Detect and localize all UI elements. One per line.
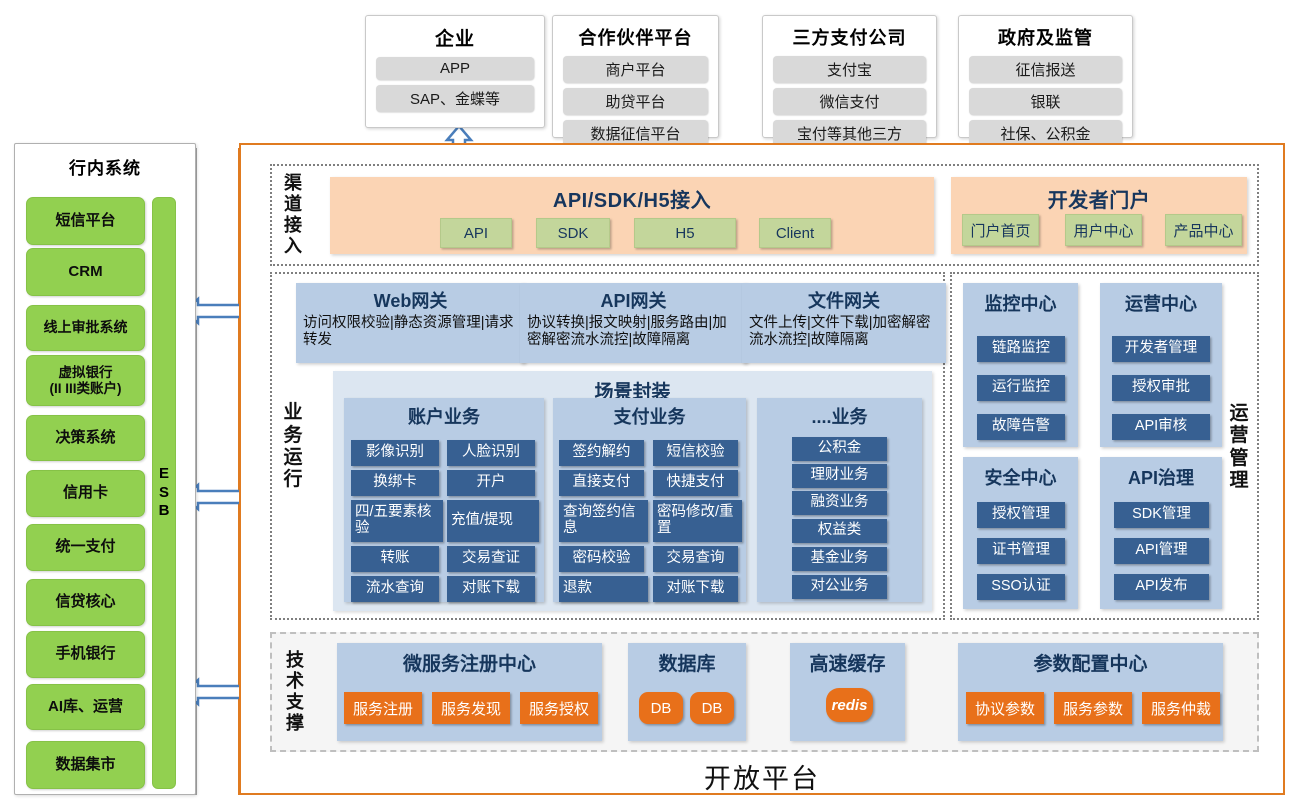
external-item[interactable]: 助贷平台 (563, 88, 708, 115)
scene-chip[interactable]: 理财业务 (792, 464, 887, 488)
scene-chip[interactable]: 影像识别 (351, 440, 439, 466)
external-box-enterprise[interactable]: 企业 APP SAP、金蝶等 (365, 15, 545, 128)
chip-label: 交易查证 (462, 551, 520, 567)
inbank-item-label: AI库、运营 (48, 699, 123, 716)
technical-support-side-label: 技术支撑 (280, 643, 310, 741)
inbank-item-unified-payment[interactable]: 统一支付 (26, 524, 145, 571)
channel-chip-api[interactable]: API (440, 218, 512, 248)
scene-chip[interactable]: 短信校验 (653, 440, 738, 466)
inbank-item-label: 手机银行 (55, 646, 115, 663)
scene-chip[interactable]: 权益类 (792, 519, 887, 543)
inbank-item-label: CRM (68, 264, 102, 281)
scene-chip[interactable]: 融资业务 (792, 491, 887, 515)
chip-label: 服务仲裁 (1151, 698, 1211, 719)
chip-label: DB (702, 700, 723, 717)
chip-label: 对账下载 (667, 581, 725, 597)
inbank-item-data-mart[interactable]: 数据集市 (26, 741, 145, 789)
esb-label-e: E (159, 465, 169, 484)
ops-chip[interactable]: API审核 (1112, 414, 1210, 440)
channel-access-side-label: 渠道接入 (278, 172, 308, 258)
architecture-diagram: 企业 APP SAP、金蝶等 合作伙伴平台 商户平台 助贷平台 数据征信平台 三… (0, 0, 1299, 799)
scene-chip[interactable]: 对账下载 (447, 576, 535, 602)
scene-chip[interactable]: 转账 (351, 546, 439, 572)
scene-chip[interactable]: 人脸识别 (447, 440, 535, 466)
external-item[interactable]: 微信支付 (773, 88, 926, 115)
channel-chip-sdk[interactable]: SDK (536, 218, 610, 248)
chip-label: 证书管理 (992, 543, 1050, 559)
chip-label: 服务发现 (441, 698, 501, 719)
ops-chip[interactable]: SDK管理 (1114, 502, 1209, 528)
ops-chip[interactable]: 授权审批 (1112, 375, 1210, 401)
chip-label: 查询签约信息 (563, 505, 648, 537)
chip-label: 服务授权 (529, 698, 589, 719)
ops-card-title: 监控中心 (963, 290, 1078, 316)
scene-chip[interactable]: 交易查询 (653, 546, 738, 572)
ops-chip[interactable]: 故障告警 (977, 414, 1065, 440)
scene-chip[interactable]: 四/五要素核验 (351, 500, 443, 542)
tech-card-title: 高速缓存 (790, 649, 905, 676)
inbank-panel-title: 行内系统 (15, 154, 195, 179)
esb-label-s: S (159, 484, 169, 503)
ops-chip[interactable]: API管理 (1114, 538, 1209, 564)
open-platform-title: 开放平台 (239, 757, 1285, 796)
chip-label: 交易查询 (667, 551, 725, 567)
external-box-title: 合作伙伴平台 (563, 24, 708, 50)
chip-label: 直接支付 (573, 475, 631, 491)
external-box-third-party-payment[interactable]: 三方支付公司 支付宝 微信支付 宝付等其他三方 (762, 15, 937, 138)
gateway-title: Web网关 (303, 287, 518, 313)
chip-label: 四/五要素核验 (355, 505, 443, 537)
inbank-item-label: 线上审批系统 (44, 320, 128, 336)
inbank-item-crm[interactable]: CRM (26, 248, 145, 296)
operations-management-side-label: 运营管理 (1224, 390, 1254, 505)
ops-card-title: 运营中心 (1100, 290, 1222, 316)
ops-chip[interactable]: 链路监控 (977, 336, 1065, 362)
scene-chip[interactable]: 密码校验 (559, 546, 644, 572)
scene-chip[interactable]: 换绑卡 (351, 470, 439, 496)
scene-chip[interactable]: 快捷支付 (653, 470, 738, 496)
chip-label: 人脸识别 (462, 445, 520, 461)
tech-chip[interactable]: 服务发现 (432, 692, 510, 724)
chip-label: DB (651, 700, 672, 717)
inbank-item-label: 虚拟银行 (II III类账户) (50, 365, 122, 395)
chip-label: 协议参数 (975, 698, 1035, 719)
inbank-item-label: 短信平台 (55, 213, 115, 230)
scene-group-title: ....业务 (757, 403, 922, 429)
ops-chip[interactable]: 证书管理 (977, 538, 1065, 564)
chip-label: 换绑卡 (373, 475, 417, 491)
gateway-desc: 文件上传|文件下载|加密解密流水流控|故障隔离 (749, 315, 939, 349)
chip-label: 短信校验 (667, 445, 725, 461)
scene-chip[interactable]: 查询签约信息 (559, 500, 648, 542)
scene-chip[interactable]: 退款 (559, 576, 648, 602)
inbank-item-label: 数据集市 (55, 757, 115, 774)
chip-label: API审核 (1135, 419, 1187, 435)
inbank-item-mobile-bank[interactable]: 手机银行 (26, 631, 145, 678)
chip-label: 用户中心 (1073, 220, 1133, 241)
tech-card-title: 参数配置中心 (958, 649, 1223, 676)
ops-chip[interactable]: 运行监控 (977, 375, 1065, 401)
ops-chip[interactable]: API发布 (1114, 574, 1209, 600)
chip-label: 开户 (477, 475, 506, 491)
scene-chip[interactable]: 签约解约 (559, 440, 644, 466)
inbank-item-label: 信用卡 (63, 485, 108, 502)
tech-chip-db[interactable]: DB (639, 692, 683, 724)
ops-card-title: 安全中心 (963, 464, 1078, 490)
scene-chip[interactable]: 密码修改/重置 (653, 500, 742, 542)
inbank-item-decision-system[interactable]: 决策系统 (26, 415, 145, 461)
chip-label: Client (776, 225, 814, 242)
tech-chip-db[interactable]: DB (690, 692, 734, 724)
scene-chip[interactable]: 充值/提现 (447, 500, 539, 542)
chip-label: 理财业务 (811, 468, 869, 484)
chip-label: 链路监控 (992, 341, 1050, 357)
tech-chip[interactable]: 服务仲裁 (1142, 692, 1220, 724)
chip-label: 公积金 (818, 441, 862, 457)
chip-label: 故障告警 (992, 419, 1050, 435)
portal-chip-product-center[interactable]: 产品中心 (1165, 214, 1242, 246)
esb-label-b: B (159, 502, 170, 521)
inbank-item-sms-platform[interactable]: 短信平台 (26, 197, 145, 245)
chip-label: 对公业务 (811, 579, 869, 595)
portal-chip-user-center[interactable]: 用户中心 (1065, 214, 1142, 246)
business-running-side-label: 业务运行 (278, 392, 308, 502)
chip-label: 对账下载 (462, 581, 520, 597)
ops-chip[interactable]: 授权管理 (977, 502, 1065, 528)
chip-label: 快捷支付 (667, 475, 725, 491)
gateway-title: 文件网关 (749, 287, 939, 313)
chip-label: 服务参数 (1063, 698, 1123, 719)
chip-label: 转账 (381, 551, 410, 567)
external-item[interactable]: 征信报送 (969, 56, 1122, 83)
chip-label: H5 (675, 225, 694, 242)
scene-chip[interactable]: 对账下载 (653, 576, 738, 602)
inbank-item-virtual-bank[interactable]: 虚拟银行 (II III类账户) (26, 355, 145, 406)
ops-chip[interactable]: SSO认证 (977, 574, 1065, 600)
chip-label: 授权管理 (992, 507, 1050, 523)
chip-label: 融资业务 (811, 495, 869, 511)
gateway-card-web[interactable]: Web网关 访问权限校验|静态资源管理|请求转发 (296, 283, 525, 363)
scene-chip[interactable]: 基金业务 (792, 547, 887, 571)
chip-label: SDK (558, 225, 589, 242)
scene-chip[interactable]: 公积金 (792, 437, 887, 461)
chip-label: API发布 (1135, 579, 1187, 595)
chip-label: 运行监控 (992, 380, 1050, 396)
chip-label: 权益类 (818, 523, 862, 539)
chip-label: 开发者管理 (1125, 341, 1198, 357)
external-box-government-regulator[interactable]: 政府及监管 征信报送 银联 社保、公积金 (958, 15, 1133, 138)
chip-label: 影像识别 (366, 445, 424, 461)
external-item[interactable]: SAP、金蝶等 (376, 85, 534, 112)
gateway-desc: 访问权限校验|静态资源管理|请求转发 (303, 315, 518, 349)
chip-label: API管理 (1135, 543, 1187, 559)
channel-chip-h5[interactable]: H5 (634, 218, 736, 248)
gateway-title: API网关 (527, 287, 740, 313)
tech-card-title: 微服务注册中心 (337, 649, 602, 676)
chip-label: 充值/提现 (451, 513, 513, 529)
external-box-title: 三方支付公司 (773, 24, 926, 50)
chip-label: SSO认证 (991, 579, 1051, 595)
tech-chip-redis[interactable]: redis (826, 688, 873, 722)
scene-chip[interactable]: 对公业务 (792, 575, 887, 599)
chip-label: 密码修改/重置 (657, 505, 742, 537)
inbank-item-online-approval[interactable]: 线上审批系统 (26, 305, 145, 351)
tech-chip[interactable]: 协议参数 (966, 692, 1044, 724)
external-item[interactable]: 商户平台 (563, 56, 708, 83)
gateway-card-api[interactable]: API网关 协议转换|报文映射|服务路由|加密解密流水流控|故障隔离 (520, 283, 747, 363)
inbank-item-label: 统一支付 (55, 539, 115, 556)
chip-label: 服务注册 (353, 698, 413, 719)
external-box-title: 企业 (376, 24, 534, 51)
inbank-item-credit-core[interactable]: 信贷核心 (26, 579, 145, 626)
chip-label: 退款 (563, 581, 592, 597)
scene-chip[interactable]: 流水查询 (351, 576, 439, 602)
ops-chip[interactable]: 开发者管理 (1112, 336, 1210, 362)
tech-card-title: 数据库 (628, 649, 746, 676)
scene-chip[interactable]: 直接支付 (559, 470, 644, 496)
api-sdk-h5-access-panel: API/SDK/H5接入 (330, 177, 934, 254)
scene-chip[interactable]: 开户 (447, 470, 535, 496)
inbank-item-ai-operations[interactable]: AI库、运营 (26, 684, 145, 730)
tech-chip[interactable]: 服务注册 (344, 692, 422, 724)
chip-label: redis (832, 697, 868, 714)
external-item[interactable]: APP (376, 57, 534, 80)
esb-bus: E S B (152, 197, 176, 789)
tech-chip[interactable]: 服务参数 (1054, 692, 1132, 724)
tech-chip[interactable]: 服务授权 (520, 692, 598, 724)
developer-portal-title: 开发者门户 (951, 184, 1247, 213)
scene-group-title: 账户业务 (344, 403, 544, 429)
external-box-partner-platform[interactable]: 合作伙伴平台 商户平台 助贷平台 数据征信平台 (552, 15, 719, 138)
gateway-desc: 协议转换|报文映射|服务路由|加密解密流水流控|故障隔离 (527, 315, 740, 349)
scene-chip[interactable]: 交易查证 (447, 546, 535, 572)
channel-chip-client[interactable]: Client (759, 218, 831, 248)
external-item[interactable]: 支付宝 (773, 56, 926, 83)
ops-card-title: API治理 (1100, 464, 1222, 490)
portal-chip-home[interactable]: 门户首页 (962, 214, 1039, 246)
scene-group-title: 支付业务 (553, 403, 746, 429)
chip-label: SDK管理 (1132, 507, 1191, 523)
chip-label: 门户首页 (970, 220, 1030, 241)
chip-label: API (464, 225, 488, 242)
chip-label: 产品中心 (1173, 220, 1233, 241)
inbank-item-label: 信贷核心 (55, 594, 115, 611)
gateway-card-file[interactable]: 文件网关 文件上传|文件下载|加密解密流水流控|故障隔离 (742, 283, 946, 363)
external-item[interactable]: 银联 (969, 88, 1122, 115)
chip-label: 基金业务 (811, 551, 869, 567)
inbank-item-label: 决策系统 (55, 430, 115, 447)
external-box-title: 政府及监管 (969, 24, 1122, 50)
inbank-item-credit-card[interactable]: 信用卡 (26, 470, 145, 517)
api-sdk-h5-access-title: API/SDK/H5接入 (330, 184, 934, 213)
chip-label: 密码校验 (573, 551, 631, 567)
chip-label: 流水查询 (366, 581, 424, 597)
chip-label: 授权审批 (1132, 380, 1190, 396)
chip-label: 签约解约 (573, 445, 631, 461)
